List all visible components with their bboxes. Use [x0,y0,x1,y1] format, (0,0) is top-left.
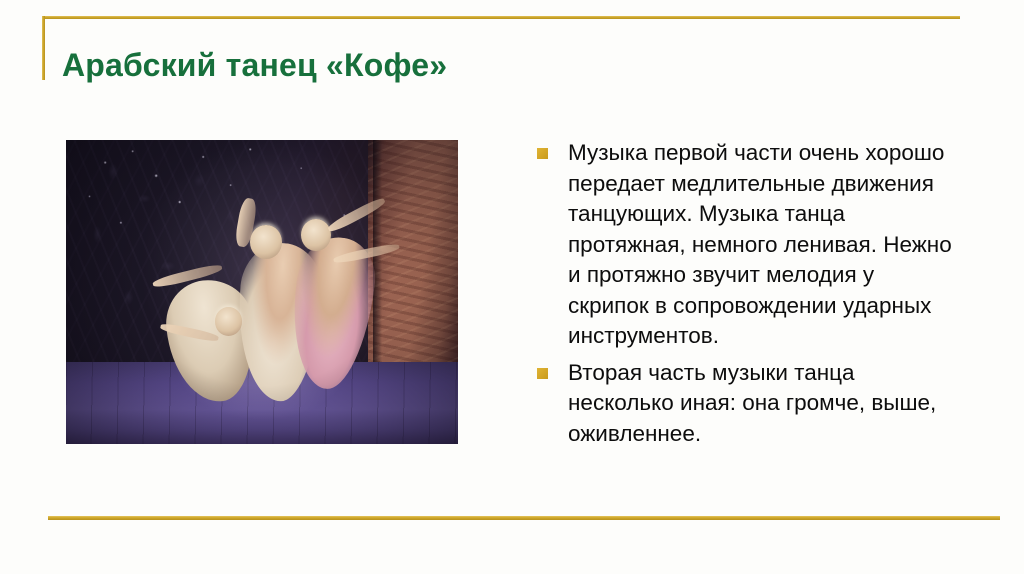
bullet-list: Музыка первой части очень хорошо передае… [537,138,957,455]
list-item: Вторая часть музыки танца несколько иная… [537,358,957,450]
page-title: Арабский танец «Кофе» [62,47,447,84]
square-bullet-icon [537,148,548,159]
slide: Арабский танец «Кофе» Музыка первой част… [0,0,1024,574]
arabian-dance-ballet-photo [66,140,458,444]
title-top-accent-line [42,16,960,19]
square-bullet-icon [537,368,548,379]
bullet-text: Музыка первой части очень хорошо передае… [568,138,957,352]
footer-accent-line [48,516,1000,520]
list-item: Музыка первой части очень хорошо передае… [537,138,957,352]
bullet-text: Вторая часть музыки танца несколько иная… [568,358,957,450]
photo-vignette [66,140,458,444]
title-left-accent-line [42,16,45,80]
